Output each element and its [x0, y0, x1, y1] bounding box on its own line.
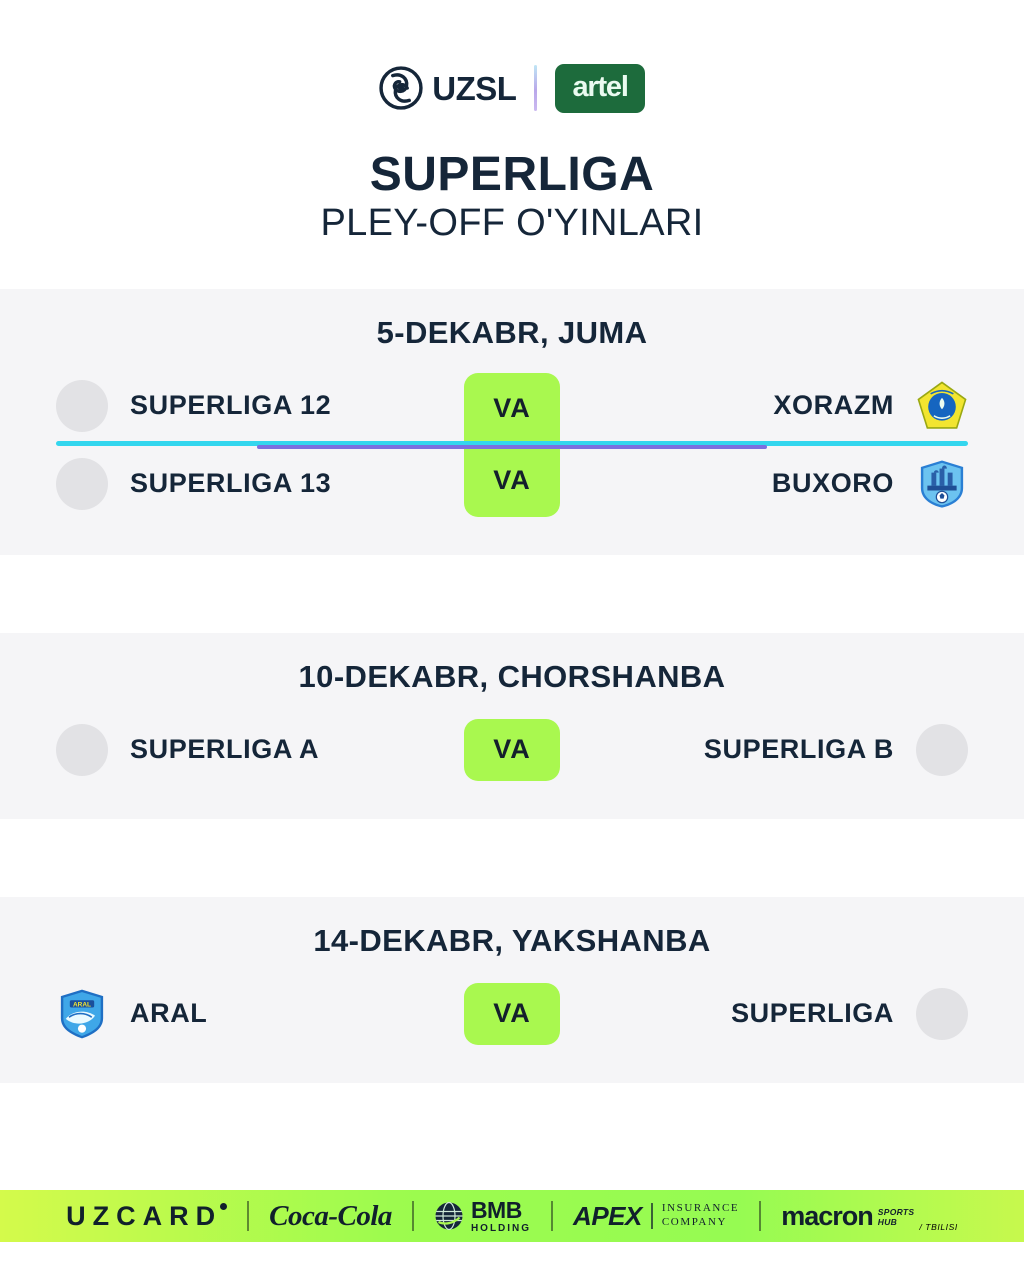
vs-badge: VA	[464, 719, 560, 781]
uzcard-wordmark: UZCARD	[66, 1201, 222, 1232]
uzsl-logo: UZSL	[379, 66, 516, 110]
macron-city: / TBILISI	[919, 1222, 957, 1232]
bmb-subtext: HOLDING	[471, 1224, 531, 1234]
artel-wordmark: artel	[572, 73, 627, 102]
page-subtitle: PLEY-OFF O'YINLARI	[0, 203, 1024, 245]
crest-placeholder	[916, 724, 968, 776]
match-block: 5-DEKABR, JUMASUPERLIGA 12XORAZMSUPERLIG…	[0, 289, 1024, 555]
macron-wordmark: macron	[781, 1201, 873, 1232]
uzsl-ball-icon	[379, 66, 423, 110]
buxoro-crest-icon	[916, 458, 968, 510]
home-team-name: SUPERLIGA A	[130, 734, 319, 765]
schedule-graphic: UZSL artel SUPERLIGA PLEY-OFF O'YINLARI …	[0, 0, 1024, 1276]
match-block: 10-DEKABR, CHORSHANBASUPERLIGA ASUPERLIG…	[0, 633, 1024, 819]
match-rows: ARALARALSUPERLIGAVA	[0, 975, 1024, 1053]
crest-placeholder	[916, 988, 968, 1040]
vs-label: VA	[464, 445, 560, 517]
sponsor-divider	[551, 1201, 553, 1231]
away-team: SUPERLIGA B	[560, 724, 968, 776]
aral-crest-icon: ARAL	[56, 988, 108, 1040]
vs-badge: VA	[464, 983, 560, 1045]
macron-subtext-line2: HUB	[878, 1217, 897, 1227]
match-date-heading: 14-DEKABR, YAKSHANBA	[0, 923, 1024, 959]
block-gap	[0, 555, 1024, 633]
home-team-name: ARAL	[130, 998, 207, 1029]
apex-subtext-line2: COMPANY	[662, 1216, 727, 1228]
away-team-name: SUPERLIGA B	[704, 734, 894, 765]
sponsor-divider	[247, 1201, 249, 1231]
uzsl-wordmark: UZSL	[432, 72, 516, 105]
apex-wordmark: APEX	[573, 1201, 642, 1232]
home-team: SUPERLIGA 12	[56, 380, 464, 432]
bmb-wordmark: BMB	[471, 1199, 531, 1222]
away-team-name: BUXORO	[772, 468, 894, 499]
header: UZSL artel SUPERLIGA PLEY-OFF O'YINLARI	[0, 0, 1024, 245]
page-title: SUPERLIGA	[0, 150, 1024, 201]
crest-placeholder	[56, 380, 108, 432]
globe-icon	[434, 1201, 464, 1231]
vs-label: VA	[464, 983, 560, 1045]
block-gap	[0, 819, 1024, 897]
away-team: SUPERLIGA	[560, 988, 968, 1040]
match-rows: SUPERLIGA 12XORAZMSUPERLIGA 13BUXOROVAVA	[0, 367, 1024, 523]
sponsor-uzcard: UZCARD	[46, 1201, 247, 1232]
apex-subtext-line1: INSURANCE	[662, 1202, 739, 1214]
away-team: XORAZM	[560, 380, 968, 432]
crest-placeholder	[56, 458, 108, 510]
uzcard-dot-icon	[220, 1203, 227, 1210]
sponsor-divider	[759, 1201, 761, 1231]
artel-logo: artel	[555, 64, 644, 113]
macron-subtext-line1: SPORTS	[878, 1207, 915, 1217]
sponsor-coca-cola: Coca-Cola	[249, 1200, 412, 1233]
title-block: SUPERLIGA PLEY-OFF O'YINLARI	[0, 150, 1024, 245]
home-team: SUPERLIGA 13	[56, 458, 464, 510]
match-rows: SUPERLIGA ASUPERLIGA BVA	[0, 711, 1024, 789]
home-team: SUPERLIGA A	[56, 724, 464, 776]
home-team: ARALARAL	[56, 988, 464, 1040]
xorazm-crest-icon	[916, 380, 968, 432]
away-team-name: SUPERLIGA	[731, 998, 894, 1029]
vs-label: VA	[464, 373, 560, 445]
sponsor-macron: macron SPORTS HUB / TBILISI	[761, 1201, 978, 1232]
vs-label: VA	[464, 719, 560, 781]
match-date-heading: 10-DEKABR, CHORSHANBA	[0, 659, 1024, 695]
match-block: 14-DEKABR, YAKSHANBAARALARALSUPERLIGAVA	[0, 897, 1024, 1083]
match-date-heading: 5-DEKABR, JUMA	[0, 315, 1024, 351]
home-team-name: SUPERLIGA 12	[130, 390, 331, 421]
sponsor-apex: APEX INSURANCE COMPANY	[553, 1201, 759, 1232]
apex-divider	[651, 1203, 653, 1229]
crest-placeholder	[56, 724, 108, 776]
sponsor-divider	[412, 1201, 414, 1231]
home-team-name: SUPERLIGA 13	[130, 468, 331, 499]
match-blocks: 5-DEKABR, JUMASUPERLIGA 12XORAZMSUPERLIG…	[0, 289, 1024, 1083]
divider-purple-line	[257, 445, 768, 449]
logo-separator	[534, 65, 537, 111]
logo-row: UZSL artel	[0, 56, 1024, 120]
coca-cola-wordmark: Coca-Cola	[269, 1200, 392, 1233]
away-team: BUXORO	[560, 458, 968, 510]
svg-text:ARAL: ARAL	[73, 1001, 91, 1008]
sponsor-bmb-holding: BMB HOLDING	[414, 1199, 551, 1234]
away-team-name: XORAZM	[773, 390, 894, 421]
sponsor-bar: UZCARD Coca-Cola BMB HOLDING	[0, 1190, 1024, 1242]
